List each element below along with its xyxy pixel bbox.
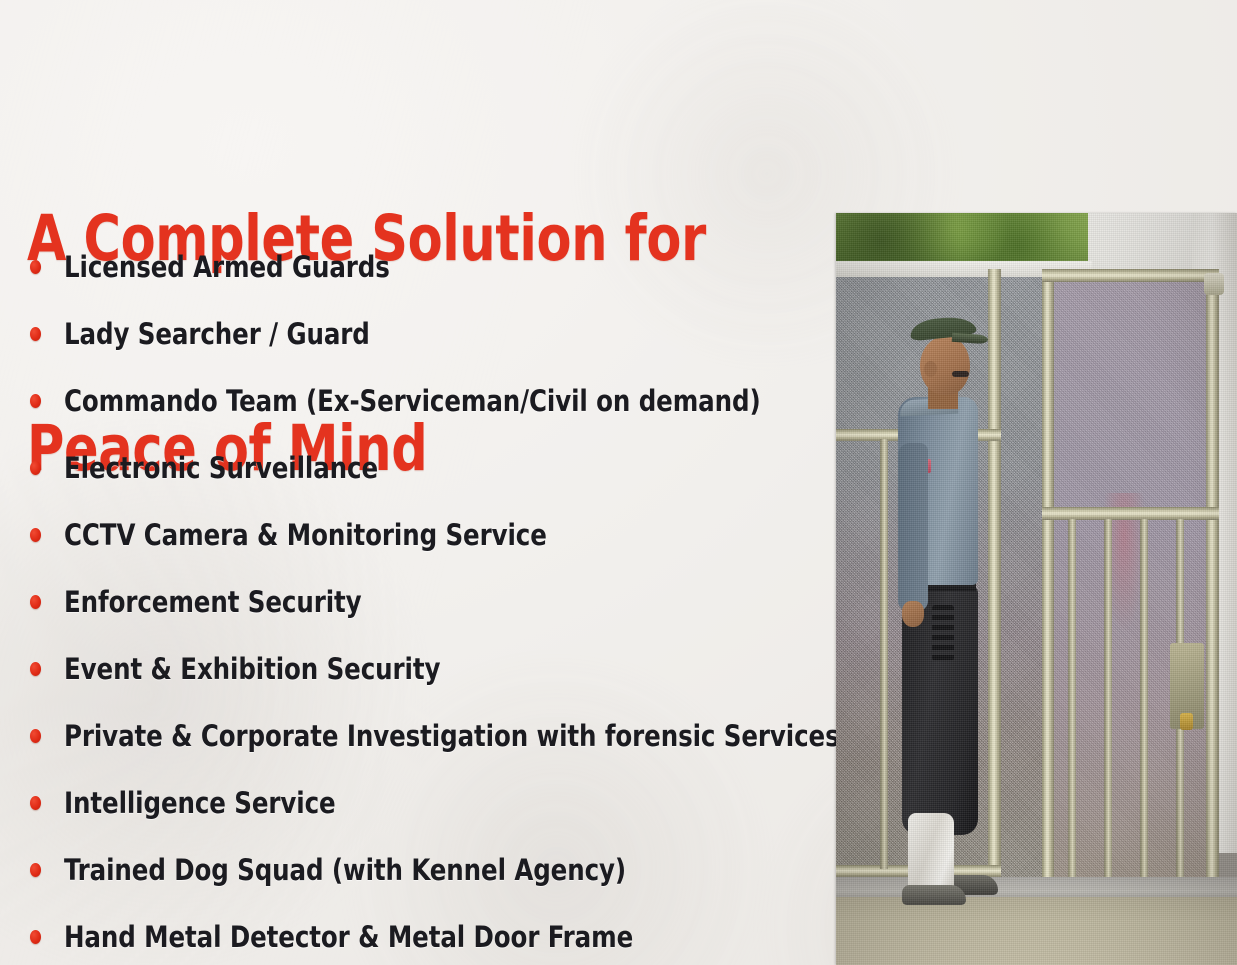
guard-hand — [902, 601, 924, 627]
service-label: Intelligence Service — [64, 788, 336, 818]
guard-moustache — [952, 371, 969, 377]
photo-gate-hinge — [1204, 273, 1224, 295]
list-item: Electronic Surveillance — [0, 434, 830, 501]
photo-gate-bar — [1068, 519, 1076, 883]
guard-arm — [898, 443, 928, 611]
photo-gate-bar — [1104, 519, 1112, 883]
bullet-dot-icon — [30, 394, 41, 408]
services-list: Licensed Armed Guards Lady Searcher / Gu… — [0, 233, 830, 965]
service-label: Commando Team (Ex-Serviceman/Civil on de… — [64, 386, 761, 416]
service-label: Lady Searcher / Guard — [64, 319, 370, 349]
service-label: Electronic Surveillance — [64, 453, 378, 483]
bullet-dot-icon — [30, 662, 41, 676]
bullet-dot-icon — [30, 863, 41, 877]
photo-gate-frame-right — [1206, 269, 1219, 897]
service-label: Trained Dog Squad (with Kennel Agency) — [64, 855, 626, 885]
guard-ear — [924, 361, 937, 377]
bullet-dot-icon — [30, 461, 41, 475]
bullet-dot-icon — [30, 260, 41, 274]
bullet-dot-icon — [30, 930, 41, 944]
service-label: Event & Exhibition Security — [64, 654, 440, 684]
guard-shoe-left — [902, 885, 966, 905]
service-label: Enforcement Security — [64, 587, 362, 617]
brochure-page: A Complete Solution for Peace of Mind Li… — [0, 0, 1237, 965]
guard-belt-pouch — [932, 605, 954, 661]
service-label: Private & Corporate Investigation with f… — [64, 721, 840, 751]
list-item: Hand Metal Detector & Metal Door Frame — [0, 903, 830, 965]
bullet-dot-icon — [30, 595, 41, 609]
photo-fence-post-left — [988, 269, 1001, 897]
photo-gate-bar — [1140, 519, 1148, 883]
list-item: CCTV Camera & Monitoring Service — [0, 501, 830, 568]
list-item: Intelligence Service — [0, 769, 830, 836]
list-item: Lady Searcher / Guard — [0, 300, 830, 367]
service-label: CCTV Camera & Monitoring Service — [64, 520, 547, 550]
photo-padlock-icon — [1180, 713, 1193, 730]
list-item: Licensed Armed Guards — [0, 233, 830, 300]
list-item: Private & Corporate Investigation with f… — [0, 702, 830, 769]
photo-gate-frame-left — [1042, 269, 1054, 897]
bullet-dot-icon — [30, 327, 41, 341]
photo-fence-bar — [880, 439, 888, 869]
service-label: Licensed Armed Guards — [64, 252, 390, 282]
guard-gaiters — [908, 813, 954, 895]
list-item: Event & Exhibition Security — [0, 635, 830, 702]
bullet-dot-icon — [30, 729, 41, 743]
bullet-dot-icon — [30, 796, 41, 810]
photo-foliage — [836, 213, 1088, 261]
list-item: Commando Team (Ex-Serviceman/Civil on de… — [0, 367, 830, 434]
photo-gate-frame-top — [1042, 269, 1219, 282]
service-label: Hand Metal Detector & Metal Door Frame — [64, 922, 633, 952]
list-item: Enforcement Security — [0, 568, 830, 635]
guard-photo — [836, 213, 1237, 965]
list-item: Trained Dog Squad (with Kennel Agency) — [0, 836, 830, 903]
photo-floor — [836, 897, 1237, 965]
bullet-dot-icon — [30, 528, 41, 542]
